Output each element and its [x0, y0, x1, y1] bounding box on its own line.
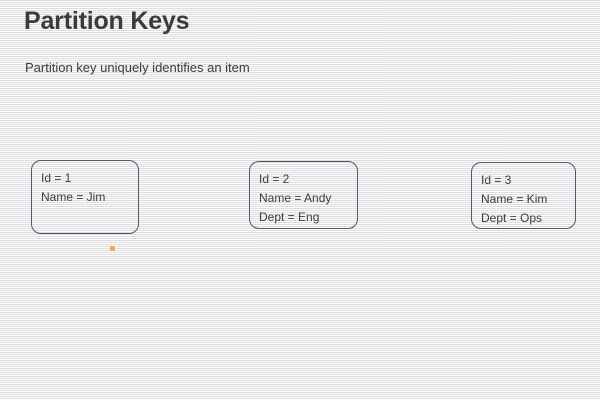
- item-box-3[interactable]: Id = 3 Name = Kim Dept = Ops: [471, 162, 576, 229]
- item-box-1[interactable]: Id = 1 Name = Jim: [31, 160, 139, 234]
- item-box-group: Id = 1 Name = Jim Id = 2 Name = Andy Dep…: [0, 0, 600, 400]
- item-attribute-name: Name = Jim: [41, 188, 138, 207]
- item-attribute-dept: Dept = Ops: [481, 209, 575, 228]
- item-attribute-id: Id = 1: [41, 169, 138, 188]
- slide-canvas: Partition Keys Partition key uniquely id…: [0, 0, 600, 400]
- item-attribute-id: Id = 2: [259, 170, 357, 189]
- item-attribute-name: Name = Kim: [481, 190, 575, 209]
- cursor-marker-icon: [110, 246, 115, 251]
- item-attribute-name: Name = Andy: [259, 189, 357, 208]
- item-attribute-dept: Dept = Eng: [259, 208, 357, 227]
- item-attribute-id: Id = 3: [481, 171, 575, 190]
- item-box-2[interactable]: Id = 2 Name = Andy Dept = Eng: [249, 161, 358, 229]
